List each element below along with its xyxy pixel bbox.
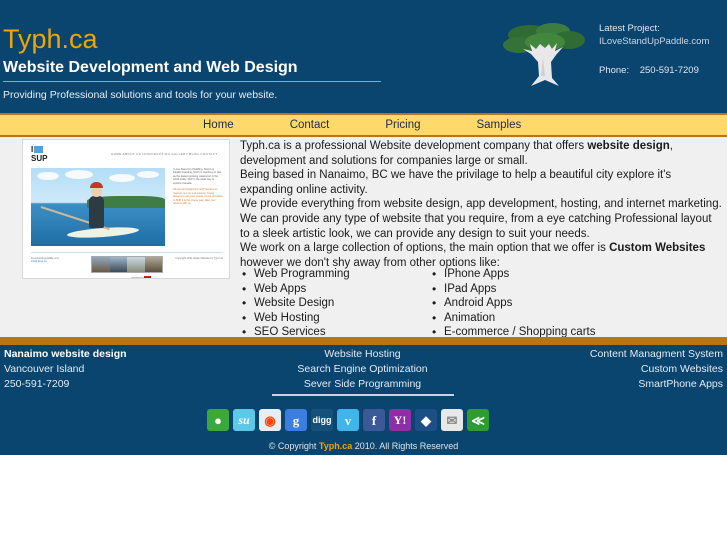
digg-icon[interactable]: digg — [311, 409, 333, 431]
site-footer: Nanaimo website designVancouver Island25… — [0, 345, 727, 455]
site-header: Typh.ca Website Development and Web Desi… — [0, 0, 727, 113]
chat-icon[interactable]: ● — [207, 409, 229, 431]
footer-column-mid: Website HostingSearch Engine Optimizatio… — [240, 347, 485, 396]
phone-number: 250-591-7209 — [640, 65, 699, 76]
nav-item-contact[interactable]: Contact — [290, 115, 330, 135]
share-icon[interactable]: ≪ — [467, 409, 489, 431]
preview-nav: HOME ABOUT US INTRODUCTION GALLERY BLOG … — [111, 152, 223, 156]
phone-label: Phone: — [599, 65, 629, 76]
intro-paragraph: We provide everything from website desig… — [240, 197, 723, 212]
footer-link[interactable]: Nanaimo website design — [4, 347, 224, 362]
services-list-right: IPhone AppsIPad AppsAndroid AppsAnimatio… — [430, 267, 670, 340]
contact-block: Latest Project: ILoveStandUpPaddle.com P… — [599, 22, 727, 77]
footer-link[interactable]: SmartPhone Apps — [500, 377, 723, 392]
footer-link[interactable]: Sever Side Programming — [240, 377, 485, 392]
footer-link[interactable]: Vancouver Island — [4, 362, 224, 377]
brand-subtitle: Website Development and Web Design — [3, 57, 381, 82]
nav-item-home[interactable]: Home — [203, 115, 234, 135]
facebook-icon[interactable]: f — [363, 409, 385, 431]
nav-item-samples[interactable]: Samples — [476, 115, 521, 135]
brand-block: Typh.ca Website Development and Web Desi… — [3, 24, 403, 102]
footer-link[interactable]: Content Managment System — [500, 347, 723, 362]
latest-project-link[interactable]: ILoveStandUpPaddle.com — [599, 35, 727, 48]
footer-link[interactable]: Custom Websites — [500, 362, 723, 377]
phone-info: Phone: 250-591-7209 — [599, 64, 727, 77]
list-item: Website Design — [240, 296, 430, 311]
page-root: Typh.ca Website Development and Web Desi… — [0, 0, 727, 545]
project-preview-thumbnail[interactable]: I SUP HOME ABOUT US INTRODUCTION GALLERY… — [22, 139, 230, 279]
preview-photo-strip — [91, 256, 163, 273]
list-item: Animation — [430, 311, 670, 326]
stumbleupon-icon[interactable]: su — [233, 409, 255, 431]
intro-paragraph: Typh.ca is a professional Website develo… — [240, 139, 723, 168]
footer-column-right: Content Managment SystemCustom WebsitesS… — [500, 347, 723, 392]
copyright-brand[interactable]: Typh.ca — [319, 441, 352, 451]
services-list-left: Web ProgrammingWeb AppsWebsite DesignWeb… — [240, 267, 430, 340]
services-lists: Web ProgrammingWeb AppsWebsite DesignWeb… — [240, 267, 723, 340]
main-navigation: HomeContactPricingSamples — [0, 113, 727, 137]
list-item: IPhone Apps — [430, 267, 670, 282]
preview-youtube-badge: powered by — [131, 276, 151, 279]
copyright-suffix: 2010. All Rights Reserved — [352, 441, 458, 451]
copyright-notice: © Copyright Typh.ca 2010. All Rights Res… — [0, 441, 727, 451]
preview-footer-left: ilovestanduppaddle.com info@ilsup.ca — [31, 257, 59, 264]
reddit-icon[interactable]: ◉ — [259, 409, 281, 431]
footer-link[interactable]: Search Engine Optimization — [240, 362, 485, 377]
list-item: Android Apps — [430, 296, 670, 311]
list-item: IPad Apps — [430, 282, 670, 297]
email-icon[interactable]: ✉ — [441, 409, 463, 431]
footer-link[interactable]: 250-591-7209 — [4, 377, 224, 392]
intro-paragraphs: Typh.ca is a professional Website develo… — [240, 139, 723, 270]
preview-body-text: I Love Stand Up Paddling. Stand up Paddl… — [173, 168, 223, 205]
page-title: Typh.ca — [3, 24, 403, 54]
preview-logo-icon: I SUP — [31, 145, 67, 165]
tree-logo-icon — [497, 18, 595, 90]
list-item: Web Programming — [240, 267, 430, 282]
social-links: ●su◉gdiggᴠfY!◆✉≪ — [207, 409, 489, 431]
preview-hero-image — [31, 168, 165, 246]
list-item: Web Apps — [240, 282, 430, 297]
main-content: I SUP HOME ABOUT US INTRODUCTION GALLERY… — [0, 137, 727, 337]
twitter-icon[interactable]: ᴠ — [337, 409, 359, 431]
latest-project-label: Latest Project: — [599, 22, 727, 35]
google-plus-icon[interactable]: ◆ — [415, 409, 437, 431]
google-icon[interactable]: g — [285, 409, 307, 431]
copyright-prefix: © Copyright — [269, 441, 319, 451]
footer-link[interactable]: Website Hosting — [240, 347, 485, 362]
footer-column-left: Nanaimo website designVancouver Island25… — [4, 347, 224, 392]
nav-items: HomeContactPricingSamples — [203, 115, 521, 135]
intro-paragraph: We work on a large collection of options… — [240, 241, 723, 270]
nav-item-pricing[interactable]: Pricing — [385, 115, 420, 135]
intro-paragraph: We can provide any type of website that … — [240, 212, 723, 241]
footer-divider — [0, 337, 727, 345]
intro-paragraph: Being based in Nanaimo, BC we have the p… — [240, 168, 723, 197]
brand-tagline: Providing Professional solutions and too… — [3, 88, 403, 102]
preview-footer-right: Copyright 2011 Made Website by Typh.ca — [175, 257, 223, 260]
list-item: Web Hosting — [240, 311, 430, 326]
footer-mid-rule — [272, 394, 454, 396]
yahoo-icon[interactable]: Y! — [389, 409, 411, 431]
